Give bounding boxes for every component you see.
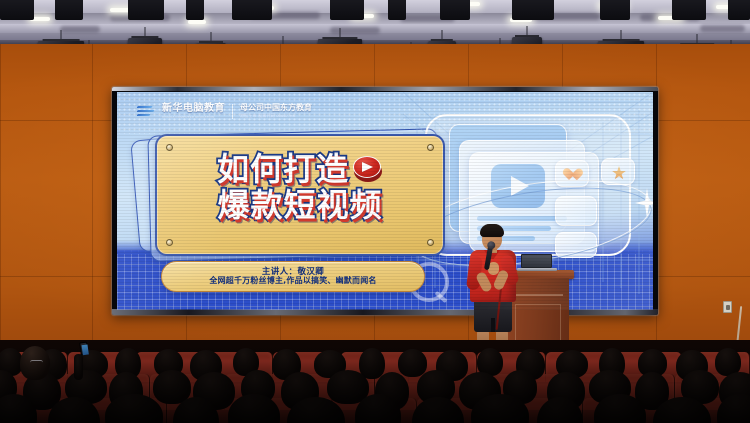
ceiling-soffit-box xyxy=(330,0,364,20)
slide-subtitle-pill: 主讲人：敬汉卿 全网超千万粉丝博主,作品以搞笑、幽默而闻名 xyxy=(161,261,425,292)
wall-panel-seam xyxy=(92,44,93,354)
brand-name-en: XINHUA COMPUTER EDUCATION xyxy=(162,116,225,119)
slide-brand-header: 新华电脑教育 XINHUA COMPUTER EDUCATION 母公司中国东方… xyxy=(137,101,312,121)
ceiling-soffit-box xyxy=(186,0,204,20)
speaker-description-line: 全网超千万粉丝博主,作品以搞笑、幽默而闻名 xyxy=(209,277,376,285)
slide-title-line-1: 如何打造 xyxy=(217,153,349,185)
ceiling-soffit-box xyxy=(672,0,706,20)
eyeglasses xyxy=(30,360,43,365)
ceiling-soffit-box xyxy=(128,0,164,20)
star-icon xyxy=(612,166,626,180)
speaker-name-line: 主讲人：敬汉卿 xyxy=(262,268,324,277)
ceiling-soffit-box xyxy=(388,0,406,20)
header-divider xyxy=(232,104,233,119)
screw-icon-bottom-right xyxy=(427,239,434,246)
fluorescent-strip-light xyxy=(188,20,206,24)
ceiling-smudge xyxy=(700,25,745,32)
slide-title-line-2: 爆款短视频 xyxy=(217,189,382,221)
slide-title-block: 如何打造 爆款短视频 xyxy=(157,153,443,221)
presenter-in-red-polo xyxy=(462,224,524,356)
ceiling-soffit-box xyxy=(512,0,554,20)
brand-name-cn: 新华电脑教育 xyxy=(162,104,225,114)
audience-area xyxy=(0,340,750,423)
stock-listing-info: 港股上市 股票代码 00667.HK xyxy=(240,114,312,118)
ceiling-soffit-box xyxy=(55,0,83,20)
ceiling-soffit-box xyxy=(600,0,630,20)
screw-icon-top-right xyxy=(427,144,434,151)
presenter-shorts xyxy=(474,298,512,332)
led-display-screen[interactable]: 新华电脑教育 XINHUA COMPUTER EDUCATION 母公司中国东方… xyxy=(112,87,658,315)
parent-company-name: 母公司中国东方教育 xyxy=(240,104,312,112)
title-plaque: 如何打造 爆款短视频 xyxy=(155,134,445,256)
ceiling-soffit-box xyxy=(728,0,750,20)
screw-icon-bottom-left xyxy=(166,239,173,246)
screw-icon-top-left xyxy=(166,144,173,151)
audience-member xyxy=(398,349,427,377)
wall-panel-seam xyxy=(0,44,1,354)
ceiling-soffit-box xyxy=(0,0,34,20)
raised-arm xyxy=(74,354,83,380)
ceiling-soffit-box xyxy=(440,0,470,20)
xinhua-logo-icon xyxy=(137,104,155,118)
play-circle-icon xyxy=(353,156,383,182)
lecture-hall-scene: 新华电脑教育 XINHUA COMPUTER EDUCATION 母公司中国东方… xyxy=(0,0,750,423)
wall-outlet xyxy=(723,301,732,313)
ceiling-soffit-box xyxy=(232,0,272,20)
